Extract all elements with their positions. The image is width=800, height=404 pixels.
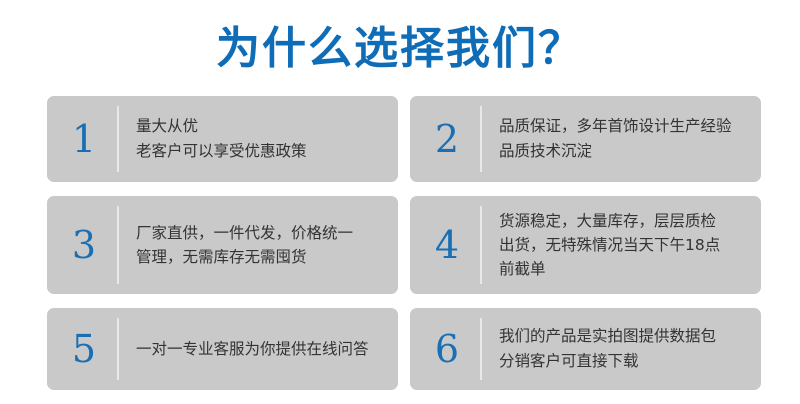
benefit-line: 一对一专业客服为你提供在线问答	[136, 337, 390, 362]
benefit-line: 量大从优	[136, 114, 390, 139]
benefit-number: 3	[47, 226, 117, 264]
page-title: 为什么选择我们？	[0, 22, 800, 76]
benefit-number: 5	[47, 330, 117, 368]
benefit-card-5: 5 一对一专业客服为你提供在线问答	[47, 308, 398, 390]
benefit-line: 品质技术沉淀	[499, 139, 753, 164]
benefit-card-1: 1 量大从优 老客户可以享受优惠政策	[47, 96, 398, 182]
benefit-card-4: 4 货源稳定，大量库存，层层质检 出货，无特殊情况当天下午18点 前截单	[410, 196, 761, 294]
benefit-line: 前截单	[499, 257, 753, 281]
benefit-line: 分销客户可直接下载	[499, 349, 753, 374]
benefit-line: 管理，无需库存无需囤货	[136, 245, 390, 269]
benefit-card-3: 3 厂家直供，一件代发，价格统一 管理，无需库存无需囤货	[47, 196, 398, 294]
benefit-text: 货源稳定，大量库存，层层质检 出货，无特殊情况当天下午18点 前截单	[482, 209, 761, 281]
benefit-line: 出货，无特殊情况当天下午18点	[499, 233, 753, 257]
benefit-line: 货源稳定，大量库存，层层质检	[499, 209, 753, 233]
benefit-line: 品质保证，多年首饰设计生产经验	[499, 114, 753, 139]
benefit-number: 4	[410, 226, 480, 264]
benefits-grid: 1 量大从优 老客户可以享受优惠政策 2 品质保证，多年首饰设计生产经验 品质技…	[47, 96, 753, 378]
benefit-card-6: 6 我们的产品是实拍图提供数据包 分销客户可直接下载	[410, 308, 761, 390]
promo-banner: 为什么选择我们？ 1 量大从优 老客户可以享受优惠政策 2 品质保证，多年首饰设…	[0, 0, 800, 404]
benefit-text: 我们的产品是实拍图提供数据包 分销客户可直接下载	[482, 324, 761, 374]
benefit-line: 厂家直供，一件代发，价格统一	[136, 221, 390, 245]
benefit-line: 我们的产品是实拍图提供数据包	[499, 324, 753, 349]
benefit-card-2: 2 品质保证，多年首饰设计生产经验 品质技术沉淀	[410, 96, 761, 182]
benefit-number: 1	[47, 120, 117, 158]
benefit-number: 2	[410, 120, 480, 158]
benefit-text: 一对一专业客服为你提供在线问答	[119, 337, 398, 362]
benefit-line: 老客户可以享受优惠政策	[136, 139, 390, 164]
benefit-text: 厂家直供，一件代发，价格统一 管理，无需库存无需囤货	[119, 221, 398, 269]
benefit-text: 量大从优 老客户可以享受优惠政策	[119, 114, 398, 164]
benefit-text: 品质保证，多年首饰设计生产经验 品质技术沉淀	[482, 114, 761, 164]
benefit-number: 6	[410, 330, 480, 368]
